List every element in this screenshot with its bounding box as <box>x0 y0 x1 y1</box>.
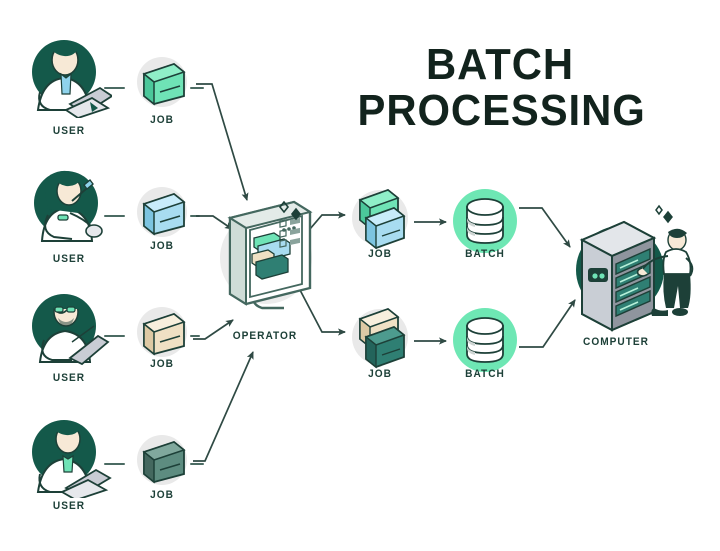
user-4-illustration <box>22 412 114 498</box>
title-line-1: BATCH <box>358 42 643 88</box>
operator[interactable] <box>210 196 320 331</box>
job-input-3-label: JOB <box>98 358 227 370</box>
job-input-2-label: JOB <box>98 240 227 252</box>
user-3-label: USER <box>5 372 134 384</box>
computer[interactable] <box>558 196 698 341</box>
job-input-4-illustration <box>130 430 194 492</box>
user-2-label: USER <box>5 253 134 265</box>
job-input-3-illustration <box>130 302 194 364</box>
page-title: BATCH PROCESSING <box>358 42 643 134</box>
diagram-canvas: BATCH PROCESSING USER JOB <box>0 0 720 551</box>
sparkle-icon <box>656 206 672 222</box>
user-1-illustration <box>20 32 112 118</box>
job-input-1[interactable] <box>130 52 194 119</box>
computer-label: COMPUTER <box>552 336 681 348</box>
job-input-2-illustration <box>130 182 194 244</box>
job-output-2-illustration <box>344 305 416 377</box>
batch-1-illustration <box>450 186 520 256</box>
batch-2-illustration <box>450 305 520 375</box>
user-2-illustration <box>22 165 114 249</box>
computer-illustration <box>558 196 698 336</box>
arrow-job1-operator <box>196 84 247 200</box>
batch-2-label: BATCH <box>421 368 550 380</box>
user-1-label: USER <box>5 125 134 137</box>
batch-1-label: BATCH <box>421 248 550 260</box>
job-input-1-illustration <box>130 52 194 114</box>
user-job-dash-links <box>105 88 203 464</box>
user-4-label: USER <box>5 500 134 512</box>
user-1[interactable] <box>20 32 112 123</box>
job-input-1-label: JOB <box>98 114 227 126</box>
operator-illustration <box>210 196 320 326</box>
job-input-4-label: JOB <box>98 489 227 501</box>
title-line-2: PROCESSING <box>358 88 643 134</box>
job-input-2[interactable] <box>130 182 194 249</box>
operator-label: OPERATOR <box>201 330 330 342</box>
job-input-4[interactable] <box>130 430 194 497</box>
